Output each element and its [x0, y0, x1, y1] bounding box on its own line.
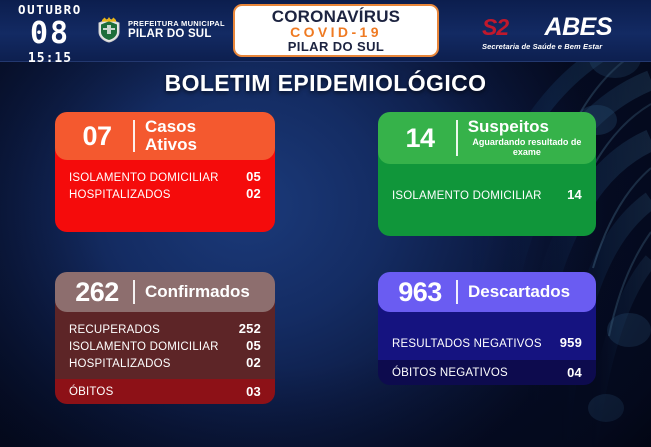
card-title-line2: Ativos: [145, 136, 197, 154]
abes-mark: S2: [482, 14, 508, 41]
stat-label: RESULTADOS NEGATIVOS: [392, 338, 542, 350]
top-header-bar: OUTUBRO 08 15:15 PREFEITURA MUNICIPAL PI…: [0, 0, 651, 62]
card-title-line1: Confirmados: [145, 283, 250, 301]
card-header: 14 Suspeitos Aguardando resultado de exa…: [378, 112, 596, 164]
stat-row: ISOLAMENTO DOMICILIAR 05: [69, 337, 261, 354]
stat-value: 959: [548, 335, 582, 350]
obitos-negativos-strip: ÓBITOS NEGATIVOS 04: [378, 360, 596, 385]
stat-label: ISOLAMENTO DOMICILIAR: [392, 190, 542, 202]
banner-line-coronavirus: CORONAVÍRUS: [272, 8, 400, 25]
prefeitura-logo: PREFEITURA MUNICIPAL PILAR DO SUL: [96, 16, 225, 44]
header-divider: [133, 120, 135, 152]
stat-row: RECUPERADOS 252: [69, 320, 261, 337]
date-time-block: OUTUBRO 08 15:15: [8, 4, 92, 65]
stat-value: 05: [227, 338, 261, 353]
prefeitura-line2: PILAR DO SUL: [128, 28, 225, 40]
card-title-line1: Casos: [145, 118, 197, 136]
card-subtitle: Aguardando resultado de exame: [468, 137, 586, 158]
stat-row: HOSPITALIZADOS 02: [69, 185, 261, 202]
abes-logo: S2 ABES Secretaria de Saúde e Bem Estar: [482, 12, 612, 51]
card-count: 14: [388, 124, 452, 152]
stat-value: 05: [227, 169, 261, 184]
stat-label: RECUPERADOS: [69, 324, 160, 336]
page-title: BOLETIM EPIDEMIOLÓGICO: [0, 70, 651, 97]
stat-label: HOSPITALIZADOS: [69, 189, 171, 201]
card-count: 262: [65, 278, 129, 306]
card-confirmados: 262 Confirmados RECUPERADOS 252 ISOLAMEN…: [55, 272, 275, 404]
prefeitura-line1: PREFEITURA MUNICIPAL: [128, 20, 225, 28]
stat-row: ISOLAMENTO DOMICILIAR 05: [69, 168, 261, 185]
header-divider: [456, 280, 458, 304]
stat-value: 02: [227, 355, 261, 370]
bulletin-board: OUTUBRO 08 15:15 PREFEITURA MUNICIPAL PI…: [0, 0, 651, 447]
card-count: 963: [388, 278, 452, 306]
card-title-line1: Descartados: [468, 283, 570, 301]
stat-row: ISOLAMENTO DOMICILIAR 14: [392, 186, 582, 203]
strip-value: 03: [227, 384, 261, 399]
card-descartados: 963 Descartados RESULTADOS NEGATIVOS 959…: [378, 272, 596, 385]
card-header: 262 Confirmados: [55, 272, 275, 312]
stat-row: HOSPITALIZADOS 02: [69, 354, 261, 371]
stat-value: 252: [227, 321, 261, 336]
card-count: 07: [65, 122, 129, 150]
stat-row: RESULTADOS NEGATIVOS 959: [392, 334, 582, 351]
abes-tagline: Secretaria de Saúde e Bem Estar: [482, 42, 612, 51]
stat-value: 02: [227, 186, 261, 201]
strip-label: ÓBITOS: [69, 386, 113, 398]
month-label: OUTUBRO: [8, 4, 92, 17]
card-suspeitos: 14 Suspeitos Aguardando resultado de exa…: [378, 112, 596, 236]
stat-label: HOSPITALIZADOS: [69, 358, 171, 370]
banner-line-city: PILAR DO SUL: [288, 40, 385, 53]
stat-label: ISOLAMENTO DOMICILIAR: [69, 172, 219, 184]
strip-label: ÓBITOS NEGATIVOS: [392, 367, 508, 379]
day-number: 08: [8, 19, 92, 49]
coat-of-arms-icon: [96, 16, 122, 44]
time-label: 15:15: [8, 52, 92, 65]
obitos-strip: ÓBITOS 03: [55, 379, 275, 404]
stat-value: 14: [548, 187, 582, 202]
card-header: 07 Casos Ativos: [55, 112, 275, 160]
card-casos-ativos: 07 Casos Ativos ISOLAMENTO DOMICILIAR 05…: [55, 112, 275, 232]
header-divider: [456, 120, 458, 156]
strip-value: 04: [548, 365, 582, 380]
header-divider: [133, 280, 135, 304]
coronavirus-title-banner: CORONAVÍRUS COVID-19 PILAR DO SUL: [233, 4, 439, 57]
card-title-line1: Suspeitos: [468, 118, 586, 136]
card-header: 963 Descartados: [378, 272, 596, 312]
banner-line-covid19: COVID-19: [290, 25, 382, 39]
stat-label: ISOLAMENTO DOMICILIAR: [69, 341, 219, 353]
abes-name: ABES: [545, 13, 612, 42]
